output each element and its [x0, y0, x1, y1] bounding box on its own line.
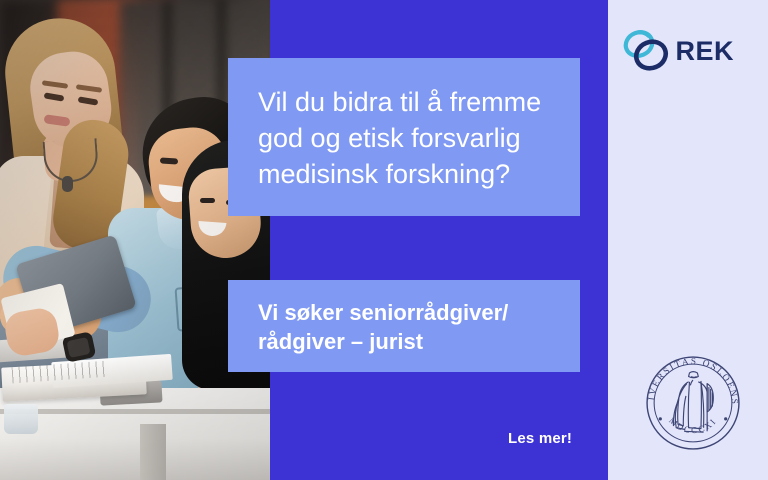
university-of-oslo-seal-icon: UNIVERSITAS OSLOENSIS MDCCCXI [640, 350, 746, 456]
interlocking-rings-icon [621, 28, 673, 74]
job-title-panel: Vi søker seniorrådgiver/ rådgiver – juri… [228, 280, 580, 372]
rek-logo: REK [621, 28, 734, 74]
headline-panel: Vil du bidra til å fremme god og etisk f… [228, 58, 580, 216]
job-ad-banner: REK UNIVERSITAS OSLOENSIS MDCCCXI [0, 0, 768, 480]
read-more-link[interactable]: Les mer! [508, 430, 572, 447]
headline-text: Vil du bidra til å fremme god og etisk f… [258, 84, 550, 193]
rek-logo-text: REK [675, 38, 734, 65]
job-title-text: Vi søker seniorrådgiver/ rådgiver – juri… [258, 298, 550, 357]
svg-text:UNIVERSITAS OSLOENSIS: UNIVERSITAS OSLOENSIS [640, 350, 739, 406]
